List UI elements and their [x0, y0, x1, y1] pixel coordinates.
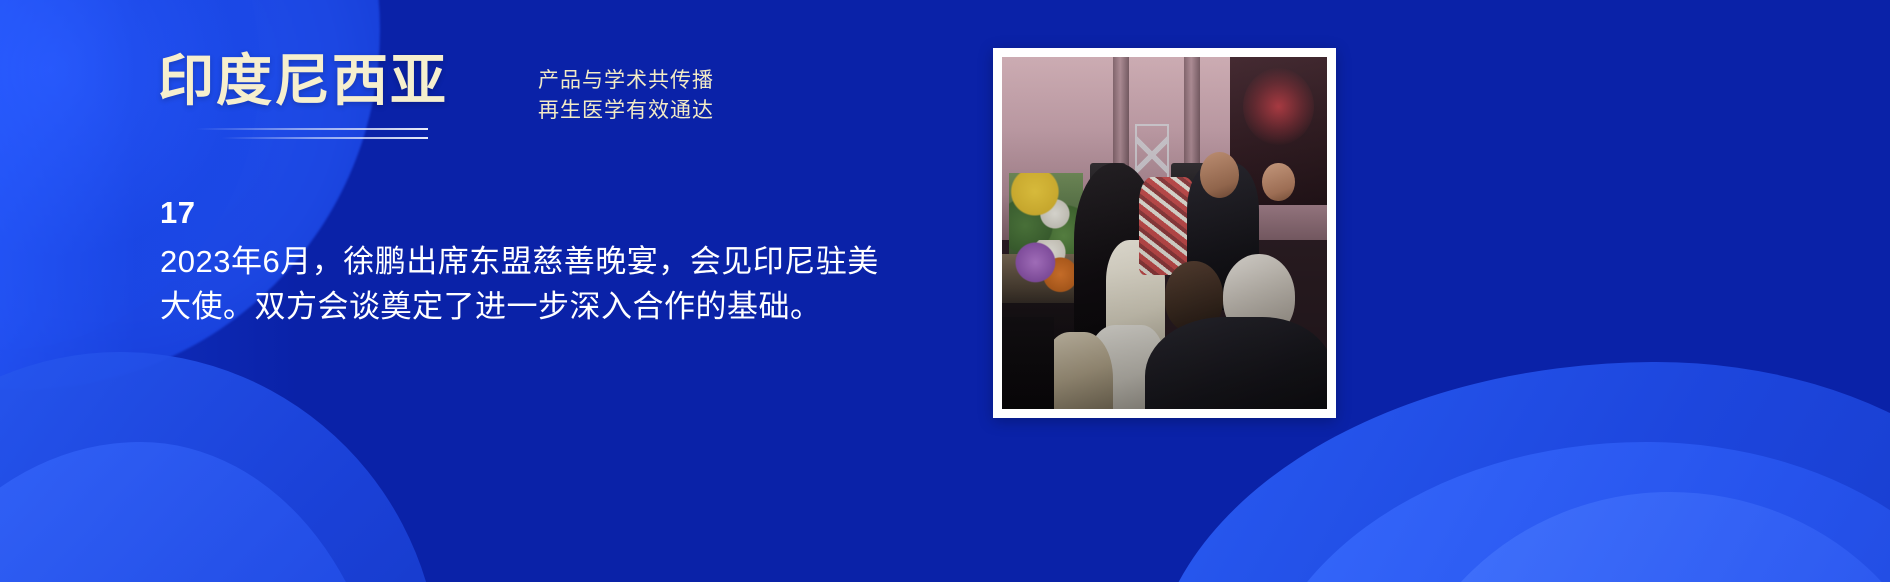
body-paragraph: 2023年6月，徐鹏出席东盟慈善晚宴，会见印尼驻美大使。双方会谈奠定了进一步深入… [160, 240, 880, 330]
photo-red-light [1243, 68, 1315, 145]
photo-frame [993, 48, 1336, 418]
body-content: 17 2023年6月，徐鹏出席东盟慈善晚宴，会见印尼驻美大使。双方会谈奠定了进一… [160, 196, 880, 330]
slogan-line-1: 产品与学术共传播 [538, 66, 714, 96]
photo-dark-corner [1002, 317, 1054, 409]
photo-head-center [1200, 152, 1239, 198]
slide-canvas: 印度尼西亚 产品与学术共传播 再生医学有效通达 17 2023年6月，徐鹏出席东… [0, 0, 1890, 582]
slogan-block: 产品与学术共传播 再生医学有效通达 [538, 66, 714, 126]
photo-foreground-shoulders [1145, 317, 1327, 409]
slogan-line-2: 再生医学有效通达 [538, 96, 714, 126]
slide-header: 印度尼西亚 产品与学术共传播 再生医学有效通达 [158, 52, 714, 126]
event-photo [1002, 57, 1327, 409]
page-title: 印度尼西亚 [158, 52, 448, 111]
title-underline-decoration [196, 128, 428, 146]
item-index-number: 17 [160, 196, 880, 230]
underline-rule-2 [222, 137, 428, 139]
underline-rule-1 [196, 128, 428, 130]
photo-head-right [1262, 163, 1295, 202]
